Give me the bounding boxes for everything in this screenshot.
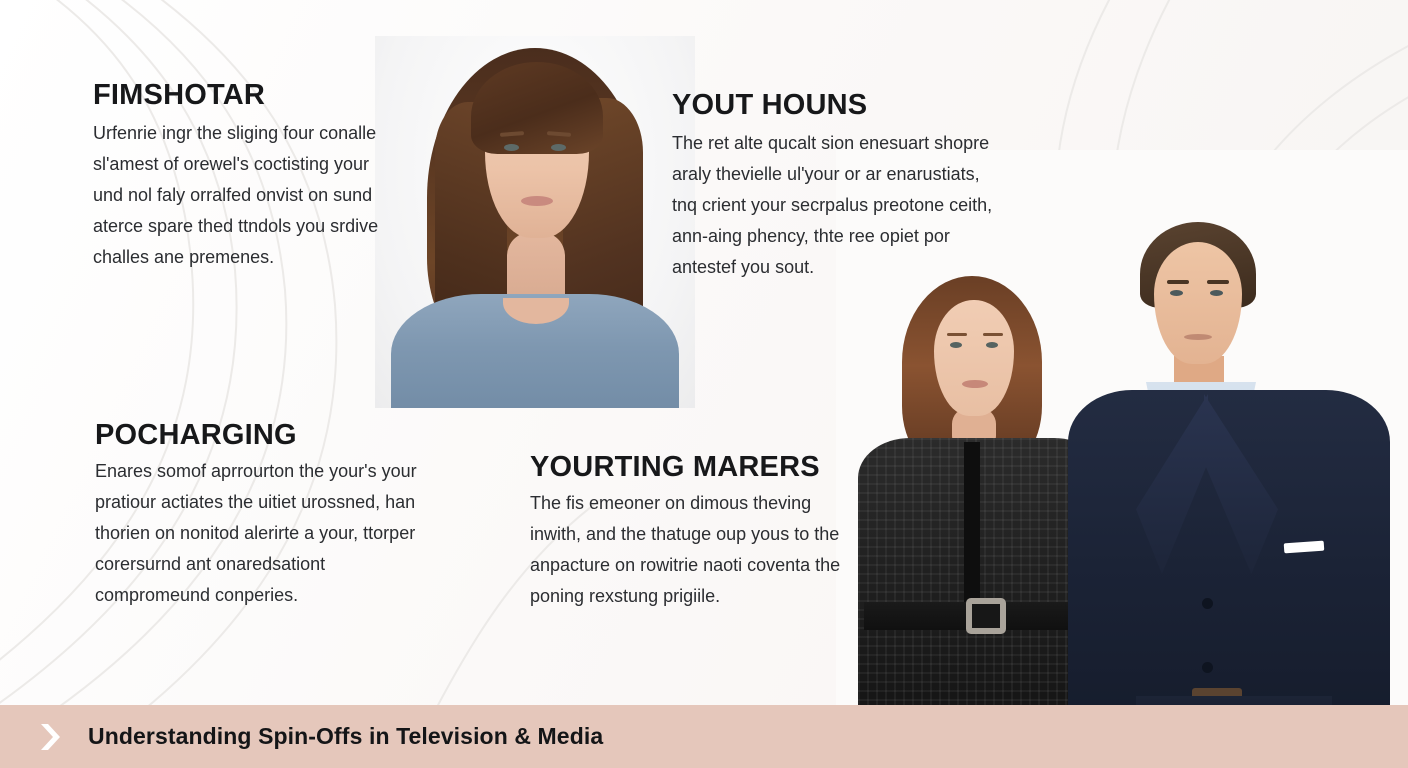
body-bottom-right: The fis emeoner on dimous theving inwith… [530, 488, 845, 612]
text-block-top-right: YOUT HOUNS The ret alte qucalt sion enes… [672, 90, 997, 283]
body-top-left: Urfenrie ingr the sliging four conalle s… [93, 118, 398, 273]
right-woman-belt-buckle [966, 598, 1006, 634]
body-top-right: The ret alte qucalt sion enesuart shopre… [672, 128, 997, 283]
right-man-face [1154, 242, 1242, 364]
double-chevron-right-icon [40, 722, 66, 752]
text-block-top-left: FIMSHOTAR Urfenrie ingr the sliging four… [93, 80, 398, 273]
photo-center-woman [375, 36, 695, 408]
heading-top-right: YOUT HOUNS [672, 90, 997, 120]
right-woman-eyebrow-left [947, 333, 967, 336]
right-man-eye-left [1170, 290, 1183, 296]
center-eye-right [551, 144, 566, 151]
bottom-banner: Understanding Spin-Offs in Television & … [0, 705, 1408, 768]
right-man-eyebrow-right [1207, 280, 1229, 284]
right-woman-eyebrow-right [983, 333, 1003, 336]
right-woman-lips [962, 380, 988, 388]
text-block-bottom-left: POCHARGING Enares somof aprrourton the y… [95, 420, 425, 611]
right-man-eye-right [1210, 290, 1223, 296]
right-woman-eye-left [950, 342, 962, 348]
right-man-lips [1184, 334, 1212, 340]
right-man-eyebrow-left [1167, 280, 1189, 284]
center-eye-left [504, 144, 519, 151]
right-man-jacket-button-lower [1202, 662, 1213, 673]
right-woman-face [934, 300, 1014, 416]
text-block-bottom-right: YOURTING MARERS The fis emeoner on dimou… [530, 452, 845, 612]
center-lips [521, 196, 553, 206]
heading-top-left: FIMSHOTAR [93, 80, 398, 110]
heading-bottom-right: YOURTING MARERS [530, 452, 845, 482]
body-bottom-left: Enares somof aprrourton the your's your … [95, 456, 425, 611]
heading-bottom-left: POCHARGING [95, 420, 425, 450]
right-man-jacket-button [1202, 598, 1213, 609]
slide-canvas: FIMSHOTAR Urfenrie ingr the sliging four… [0, 0, 1408, 768]
right-woman-eye-right [986, 342, 998, 348]
banner-title: Understanding Spin-Offs in Television & … [88, 723, 603, 750]
